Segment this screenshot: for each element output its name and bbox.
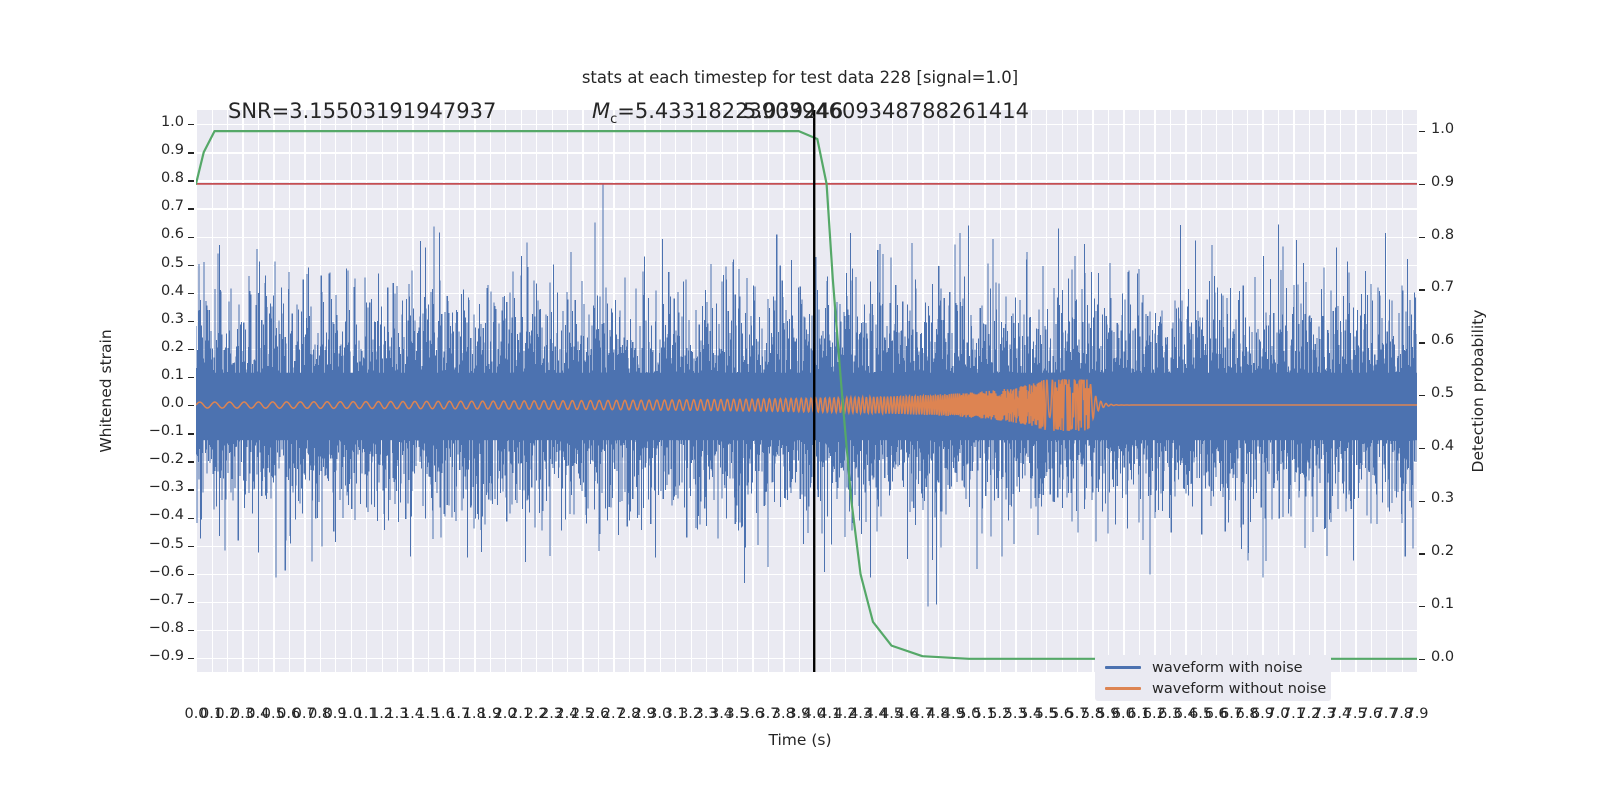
y-tick-mark-left: [188, 180, 194, 181]
y-tick-label-left: −0.2: [138, 451, 184, 467]
y-tick-label-left: 0.0: [138, 395, 184, 411]
x-axis-label: Time (s): [0, 731, 1600, 749]
x-tick-label: 7.9: [1405, 706, 1428, 722]
y-tick-label-left: −0.8: [138, 620, 184, 636]
figure-canvas: stats at each timestep for test data 228…: [0, 0, 1600, 800]
y-tick-label-left: 0.3: [138, 311, 184, 327]
chirp-mass-symbol: M: [592, 99, 610, 123]
y-tick-mark-right: [1419, 606, 1425, 607]
y-tick-label-right: 0.2: [1431, 543, 1491, 559]
plot-area: [196, 110, 1417, 672]
y-tick-mark-left: [188, 237, 194, 238]
y-tick-label-left: −0.9: [138, 648, 184, 664]
y-tick-label-right: 0.6: [1431, 332, 1491, 348]
y-tick-label-right: 0.3: [1431, 490, 1491, 506]
y-tick-label-left: 1.0: [138, 114, 184, 130]
y-tick-mark-left: [188, 377, 194, 378]
y-tick-label-left: −0.7: [138, 592, 184, 608]
y-tick-label-right: 0.5: [1431, 385, 1491, 401]
y-tick-label-left: −0.1: [138, 423, 184, 439]
chirp-mass-overlap-annotation: 5.039246: [743, 99, 843, 123]
legend-swatch-without-noise: [1105, 687, 1141, 690]
y-tick-mark-left: [188, 518, 194, 519]
y-tick-mark-right: [1419, 237, 1425, 238]
y-tick-label-right: 0.9: [1431, 174, 1491, 190]
legend-item-0[interactable]: waveform with noise: [1095, 657, 1331, 678]
y-tick-mark-right: [1419, 448, 1425, 449]
y-tick-label-left: 0.1: [138, 367, 184, 383]
y-tick-mark-right: [1419, 131, 1425, 132]
y-tick-label-left: 0.9: [138, 142, 184, 158]
y-tick-mark-left: [188, 349, 194, 350]
y-tick-mark-left: [188, 546, 194, 547]
legend-label-with-noise: waveform with noise: [1152, 660, 1303, 676]
y-tick-mark-left: [188, 461, 194, 462]
y-tick-label-left: −0.5: [138, 536, 184, 552]
y-tick-mark-right: [1419, 659, 1425, 660]
snr-annotation: SNR=3.15503191947937: [228, 99, 496, 123]
y-tick-label-left: 0.6: [138, 226, 184, 242]
y-tick-mark-left: [188, 321, 194, 322]
y-tick-label-left: −0.4: [138, 507, 184, 523]
y-tick-label-right: 1.0: [1431, 121, 1491, 137]
y-tick-label-right: 0.8: [1431, 227, 1491, 243]
y-tick-label-left: 0.2: [138, 339, 184, 355]
y-tick-mark-left: [188, 574, 194, 575]
y-tick-label-left: −0.3: [138, 479, 184, 495]
y-tick-label-right: 0.7: [1431, 279, 1491, 295]
y-tick-label-right: 0.4: [1431, 438, 1491, 454]
y-tick-mark-left: [188, 405, 194, 406]
legend[interactable]: waveform with noise waveform without noi…: [1095, 655, 1331, 701]
y-tick-mark-left: [188, 152, 194, 153]
y-tick-mark-left: [188, 208, 194, 209]
y-tick-label-left: 0.8: [138, 170, 184, 186]
y-tick-mark-right: [1419, 395, 1425, 396]
y-tick-mark-left: [188, 293, 194, 294]
y-tick-label-right: 0.0: [1431, 649, 1491, 665]
y-tick-mark-right: [1419, 342, 1425, 343]
y-tick-label-left: 0.7: [138, 198, 184, 214]
legend-swatch-with-noise: [1105, 666, 1141, 669]
y-tick-mark-right: [1419, 184, 1425, 185]
y-tick-mark-left: [188, 124, 194, 125]
legend-item-1[interactable]: waveform without noise: [1095, 678, 1331, 699]
y-tick-mark-left: [188, 433, 194, 434]
plot-title: stats at each timestep for test data 228…: [0, 68, 1600, 87]
legend-label-without-noise: waveform without noise: [1152, 681, 1326, 697]
y-tick-mark-left: [188, 602, 194, 603]
y-tick-label-left: 0.5: [138, 255, 184, 271]
waveform-plot: [196, 110, 1417, 672]
y-tick-mark-right: [1419, 553, 1425, 554]
y-axis-label-left: Whitened strain: [97, 329, 115, 452]
y-tick-label-left: 0.4: [138, 283, 184, 299]
y-tick-mark-right: [1419, 289, 1425, 290]
y-tick-mark-left: [188, 658, 194, 659]
y-tick-mark-left: [188, 489, 194, 490]
y-tick-mark-left: [188, 265, 194, 266]
y-tick-mark-left: [188, 630, 194, 631]
y-tick-mark-right: [1419, 501, 1425, 502]
y-tick-label-right: 0.1: [1431, 596, 1491, 612]
y-tick-label-left: −0.6: [138, 564, 184, 580]
